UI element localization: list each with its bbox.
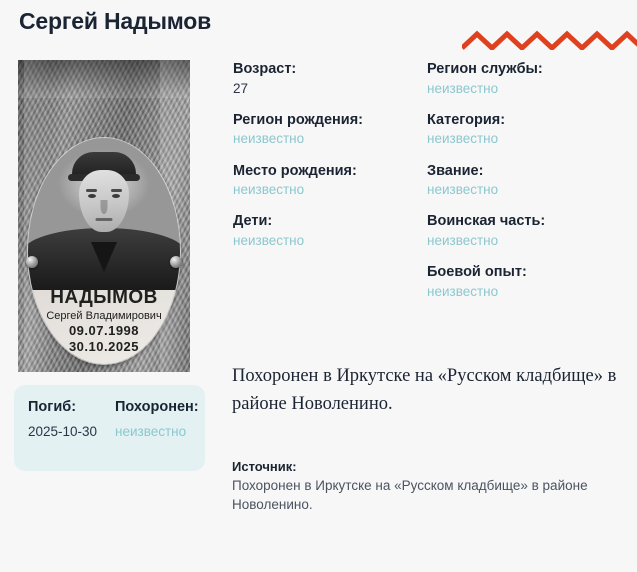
field-value: неизвестно [427, 232, 627, 250]
field-label: Звание: [427, 162, 627, 181]
field-row: Воинская часть:неизвестно [427, 212, 627, 250]
plaque-given-name: Сергей Владимирович [28, 310, 180, 323]
died-label: Погиб: [28, 398, 104, 416]
field-value: неизвестно [427, 283, 627, 301]
portrait-brow-right [111, 189, 122, 192]
portrait-brow-left [86, 189, 97, 192]
field-value: неизвестно [427, 80, 627, 98]
plaque-inscription: НАДЫМОВ Сергей Владимирович 09.07.1998 3… [28, 288, 180, 356]
info-fields-right-column: Регион службы:неизвестноКатегория:неизве… [427, 60, 627, 314]
field-value: неизвестно [233, 130, 413, 148]
buried-value: неизвестно [115, 422, 191, 442]
field-label: Воинская часть: [427, 212, 627, 231]
field-row: Регион рождения:неизвестно [233, 111, 413, 149]
field-value: неизвестно [233, 232, 413, 250]
plaque-screw-left [26, 256, 38, 268]
field-row: Дети:неизвестно [233, 212, 413, 250]
portrait-mouth [96, 218, 113, 221]
plaque-screw-right [170, 256, 182, 268]
field-value: неизвестно [233, 181, 413, 199]
source-text: Похоронен в Иркутске на «Русском кладбищ… [232, 476, 617, 514]
zigzag-decoration [462, 28, 637, 50]
field-value: неизвестно [427, 130, 627, 148]
field-label: Категория: [427, 111, 627, 130]
buried-label: Похоронен: [115, 398, 191, 416]
dates-box: Погиб: 2025-10-30 Похоронен: неизвестно [14, 385, 205, 471]
field-label: Регион службы: [427, 60, 627, 79]
field-row: Боевой опыт:неизвестно [427, 263, 627, 301]
memorial-photo: НАДЫМОВ Сергей Владимирович 09.07.1998 3… [18, 60, 190, 372]
source-label: Источник: [232, 458, 617, 476]
zigzag-line-icon [462, 28, 637, 50]
died-column: Погиб: 2025-10-30 [28, 398, 104, 471]
died-value: 2025-10-30 [28, 422, 104, 442]
field-row: Регион службы:неизвестно [427, 60, 627, 98]
info-fields-left-column: Возраст:27Регион рождения:неизвестноМест… [233, 60, 413, 263]
portrait-jacket [28, 228, 180, 290]
field-label: Место рождения: [233, 162, 413, 181]
portrait-nose [101, 200, 108, 214]
portrait-eye-right [112, 194, 120, 198]
plaque-death-date: 30.10.2025 [28, 339, 180, 356]
field-label: Регион рождения: [233, 111, 413, 130]
oval-plaque: НАДЫМОВ Сергей Владимирович 09.07.1998 3… [28, 138, 180, 364]
field-row: Возраст:27 [233, 60, 413, 98]
field-row: Звание:неизвестно [427, 162, 627, 200]
field-label: Дети: [233, 212, 413, 231]
field-row: Место рождения:неизвестно [233, 162, 413, 200]
source-section: Источник: Похоронен в Иркутске на «Русск… [232, 458, 617, 515]
portrait-eye-left [88, 194, 96, 198]
portrait-image [28, 138, 180, 290]
field-label: Возраст: [233, 60, 413, 79]
field-value: неизвестно [427, 181, 627, 199]
portrait-collar [91, 242, 117, 272]
field-label: Боевой опыт: [427, 263, 627, 282]
field-row: Категория:неизвестно [427, 111, 627, 149]
burial-description: Похоронен в Иркутске на «Русском кладбищ… [232, 362, 630, 418]
plaque-birth-date: 09.07.1998 [28, 323, 180, 340]
field-value: 27 [233, 80, 413, 98]
buried-column: Похоронен: неизвестно [115, 398, 191, 471]
page-title: Сергей Надымов [19, 8, 211, 35]
plaque-surname: НАДЫМОВ [28, 288, 180, 308]
portrait-face [79, 170, 129, 232]
